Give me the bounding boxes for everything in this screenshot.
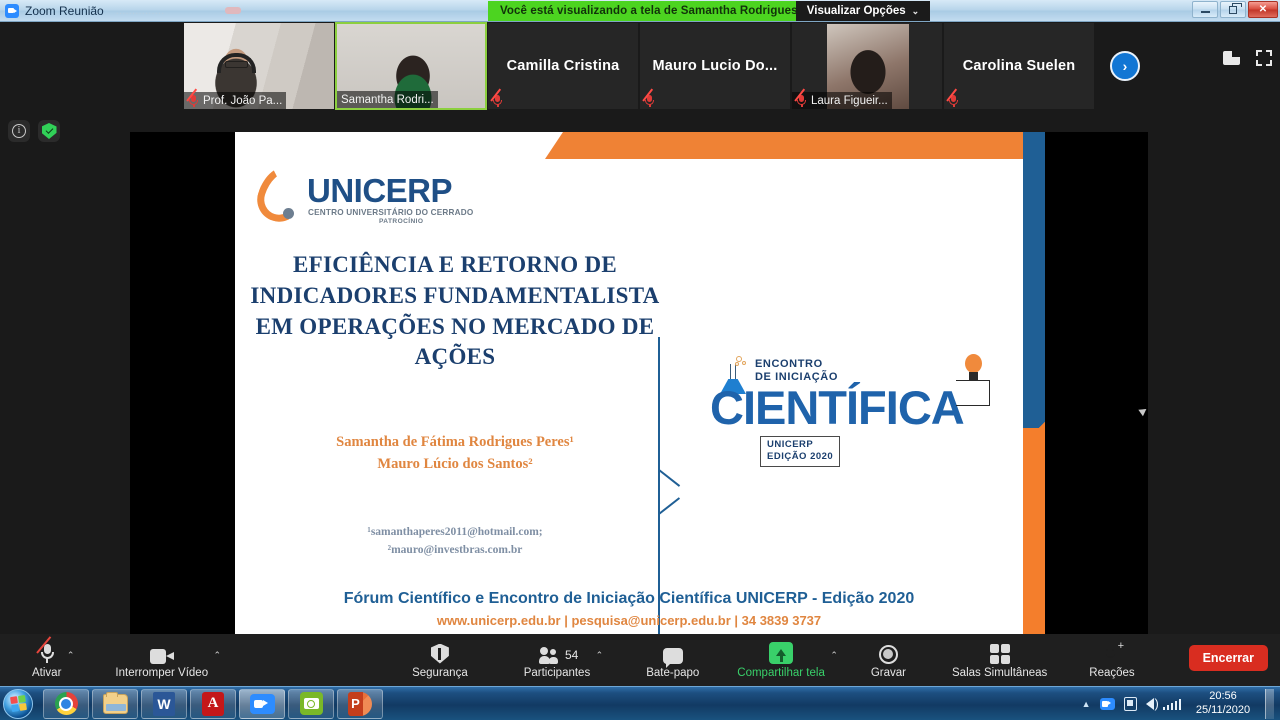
pip-view-icon[interactable] bbox=[1223, 51, 1240, 65]
chrome-icon bbox=[55, 692, 78, 715]
participant-namebar: Samantha Rodri... bbox=[337, 91, 438, 108]
taskbar-item-word[interactable]: W bbox=[141, 689, 187, 719]
record-icon bbox=[879, 642, 898, 664]
unicerp-dot-icon bbox=[283, 208, 294, 219]
security-button[interactable]: Segurança bbox=[408, 634, 472, 686]
event-logo-box-line2: EDIÇÃO 2020 bbox=[767, 451, 833, 463]
share-screen-icon bbox=[769, 642, 793, 664]
screen-share-banner: Você está visualizando a tela de Samanth… bbox=[488, 1, 810, 21]
event-logo: ENCONTRO DE INICIAÇÃO CIENTÍFICA UNICERP… bbox=[700, 350, 990, 468]
unicerp-wordmark: UNICERP bbox=[307, 172, 452, 210]
participant-tile[interactable]: Carolina Suelen bbox=[943, 22, 1095, 110]
zoom-toolbar: Ativar ⌃ Interromper Vídeo ⌃ Segurança 5… bbox=[0, 634, 1280, 686]
slide-footer-title: Fórum Científico e Encontro de Iniciação… bbox=[235, 590, 1023, 608]
record-label: Gravar bbox=[871, 667, 906, 679]
zoom-tray-icon[interactable] bbox=[1100, 698, 1115, 710]
taskbar-apps: W A bbox=[43, 689, 383, 719]
glasses-icon bbox=[225, 61, 248, 68]
taskbar-item-powerpoint[interactable] bbox=[337, 689, 383, 719]
zoom-icon bbox=[250, 694, 275, 714]
mic-muted-icon bbox=[948, 94, 959, 108]
security-label: Segurança bbox=[412, 667, 468, 679]
record-button[interactable]: Gravar bbox=[867, 634, 910, 686]
shield-icon bbox=[431, 642, 449, 664]
unicerp-swoosh-icon bbox=[251, 161, 310, 228]
restore-button[interactable] bbox=[1220, 1, 1246, 18]
event-logo-line1: ENCONTRO bbox=[755, 358, 823, 370]
system-tray: ▲ 20:56 25/11/2020 bbox=[1082, 689, 1280, 719]
mic-muted-icon bbox=[796, 94, 807, 108]
participants-label: Participantes bbox=[524, 667, 590, 679]
participant-name: Laura Figueir... bbox=[811, 95, 888, 107]
people-icon: 54 bbox=[551, 642, 563, 664]
participant-tile[interactable]: Camilla Cristina bbox=[487, 22, 639, 110]
word-icon: W bbox=[153, 692, 175, 716]
tray-overflow-icon[interactable]: ▲ bbox=[1082, 699, 1091, 709]
powerpoint-icon bbox=[348, 692, 372, 716]
participant-name: Prof. João Pa... bbox=[203, 95, 282, 107]
chevron-down-icon: ⌄ bbox=[912, 6, 920, 17]
chat-label: Bate-papo bbox=[646, 667, 699, 679]
slide-authors: Samantha de Fátima Rodrigues Peres¹ Maur… bbox=[245, 432, 665, 476]
participant-name: Samantha Rodri... bbox=[341, 94, 434, 106]
zoom-icon bbox=[5, 4, 19, 18]
video-options-caret-icon[interactable]: ⌃ bbox=[214, 650, 222, 661]
acrobat-icon: A bbox=[202, 692, 224, 716]
clock-date: 25/11/2020 bbox=[1190, 704, 1256, 718]
event-logo-main: CIENTÍFICA bbox=[710, 380, 964, 435]
unicerp-tagline: CENTRO UNIVERSITÁRIO DO CERRADO bbox=[308, 208, 473, 217]
taskbar-item-file-explorer[interactable] bbox=[92, 689, 138, 719]
participant-tile[interactable]: Samantha Rodri... bbox=[335, 22, 487, 110]
end-meeting-button[interactable]: Encerrar bbox=[1189, 645, 1268, 671]
participant-namebar: Laura Figueir... bbox=[792, 92, 892, 109]
filmstrip-next-button[interactable]: › bbox=[1110, 51, 1140, 81]
meeting-badges: i bbox=[8, 120, 60, 142]
shared-screen-canvas: UNICERP CENTRO UNIVERSITÁRIO DO CERRADO … bbox=[130, 132, 1148, 644]
taskbar-item-chrome[interactable] bbox=[43, 689, 89, 719]
taskbar-item-acrobat[interactable]: A bbox=[190, 689, 236, 719]
window-controls: ✕ bbox=[1192, 1, 1278, 18]
unicerp-tagline-2: PATROCÍNIO bbox=[379, 218, 423, 225]
breakout-rooms-label: Salas Simultâneas bbox=[952, 667, 1047, 679]
mic-muted-icon bbox=[39, 642, 54, 664]
slide-footer-contact: www.unicerp.edu.br | pesquisa@unicerp.ed… bbox=[235, 613, 1023, 628]
action-center-icon[interactable] bbox=[1124, 697, 1137, 711]
info-icon: i bbox=[12, 124, 26, 138]
mic-muted-icon bbox=[492, 94, 503, 108]
author-1: Samantha de Fátima Rodrigues Peres¹ bbox=[245, 432, 665, 454]
share-caret-icon[interactable]: ⌃ bbox=[830, 650, 838, 661]
participant-name: Mauro Lucio Do... bbox=[640, 23, 790, 109]
mic-muted-icon bbox=[644, 94, 655, 108]
presentation-slide: UNICERP CENTRO UNIVERSITÁRIO DO CERRADO … bbox=[235, 132, 1045, 644]
stop-video-button[interactable]: Interromper Vídeo ⌃ bbox=[111, 634, 212, 686]
shield-check-icon bbox=[42, 123, 57, 139]
participant-tile[interactable]: Mauro Lucio Do... bbox=[639, 22, 791, 110]
window-title-secondary: ............... bbox=[116, 5, 165, 17]
window-title: Zoom Reunião bbox=[25, 4, 104, 18]
reactions-label: Reações bbox=[1089, 667, 1134, 679]
chat-button[interactable]: Bate-papo bbox=[642, 634, 703, 686]
volume-icon[interactable] bbox=[1146, 698, 1154, 710]
lightbulb-icon bbox=[962, 354, 984, 388]
minimize-button[interactable] bbox=[1192, 1, 1218, 18]
participant-namebar bbox=[488, 92, 507, 109]
stop-video-label: Interromper Vídeo bbox=[115, 667, 208, 679]
email-2: ²mauro@investbras.com.br bbox=[245, 542, 665, 560]
windows-logo-icon bbox=[10, 695, 27, 712]
taskbar-item-camera-app[interactable] bbox=[288, 689, 334, 719]
participant-namebar: Prof. João Pa... bbox=[184, 92, 286, 109]
slide-right-orange-bar bbox=[1023, 428, 1045, 644]
taskbar-item-zoom[interactable] bbox=[239, 689, 285, 719]
share-screen-button[interactable]: Compartilhar tela ⌃ bbox=[733, 634, 829, 686]
event-logo-box-line1: UNICERP bbox=[767, 439, 833, 451]
clock-time: 20:56 bbox=[1190, 690, 1256, 704]
breakout-rooms-icon bbox=[990, 642, 1010, 664]
windows-taskbar: W A ▲ 20:56 25/11/2020 bbox=[0, 686, 1280, 720]
slide-top-orange-band bbox=[545, 132, 1045, 159]
breakout-rooms-button[interactable]: Salas Simultâneas bbox=[948, 634, 1051, 686]
camera-icon bbox=[150, 642, 174, 664]
close-button[interactable]: ✕ bbox=[1248, 1, 1278, 18]
participant-tile[interactable]: Laura Figueir... bbox=[791, 22, 943, 110]
fullscreen-icon[interactable] bbox=[1256, 50, 1272, 66]
view-options-button[interactable]: Visualizar Opções ⌄ bbox=[796, 1, 930, 21]
share-screen-label: Compartilhar tela bbox=[737, 667, 825, 679]
participants-count: 54 bbox=[565, 648, 578, 662]
mic-muted-icon bbox=[188, 94, 199, 108]
slide-emails: ¹samanthaperes2011@hotmail.com; ²mauro@i… bbox=[245, 524, 665, 560]
shared-screen-stage: i UNICERP CENTRO UNI bbox=[0, 110, 1280, 656]
participant-name: Camilla Cristina bbox=[488, 23, 638, 109]
unicerp-logo: UNICERP CENTRO UNIVERSITÁRIO DO CERRADO … bbox=[259, 164, 489, 230]
taskbar-clock[interactable]: 20:56 25/11/2020 bbox=[1190, 690, 1256, 718]
encryption-badge[interactable] bbox=[38, 120, 60, 142]
participant-namebar bbox=[944, 92, 963, 109]
filmstrip-next-area: › bbox=[1095, 22, 1155, 110]
mute-label: Ativar bbox=[32, 667, 61, 679]
filmstrip-spacer bbox=[0, 22, 183, 110]
view-options-label: Visualizar Opções bbox=[807, 5, 906, 17]
show-desktop-button[interactable] bbox=[1265, 689, 1274, 719]
slide-title: EFICIÊNCIA E RETORNO DE INDICADORES FUND… bbox=[245, 250, 665, 373]
meeting-info-badge[interactable]: i bbox=[8, 120, 30, 142]
event-logo-box: UNICERP EDIÇÃO 2020 bbox=[760, 436, 840, 467]
author-2: Mauro Lúcio dos Santos² bbox=[245, 454, 665, 476]
windows-start-button[interactable] bbox=[3, 689, 33, 719]
network-icon[interactable] bbox=[1163, 698, 1182, 710]
email-1: ¹samanthaperes2011@hotmail.com; bbox=[245, 524, 665, 542]
reactions-icon: + bbox=[1102, 642, 1122, 664]
participant-tile[interactable]: Prof. João Pa... bbox=[183, 22, 335, 110]
participants-button[interactable]: 54 Participantes ⌃ bbox=[520, 634, 594, 686]
view-controls bbox=[1223, 50, 1272, 66]
participant-name: Carolina Suelen bbox=[944, 23, 1094, 109]
title-bar-decoration bbox=[225, 7, 241, 14]
mute-button[interactable]: Ativar ⌃ bbox=[28, 634, 65, 686]
camera-app-icon bbox=[300, 692, 323, 715]
chat-bubble-icon bbox=[663, 642, 683, 664]
audio-options-caret-icon[interactable]: ⌃ bbox=[67, 650, 75, 661]
screen-root: Zoom Reunião ............... Você está v… bbox=[0, 0, 1280, 720]
folder-icon bbox=[103, 694, 128, 714]
participant-namebar bbox=[640, 92, 659, 109]
participants-caret-icon[interactable]: ⌃ bbox=[596, 650, 604, 661]
zoom-window: Prof. João Pa... Samantha Rodri... Camil… bbox=[0, 22, 1280, 686]
participant-filmstrip: Prof. João Pa... Samantha Rodri... Camil… bbox=[0, 22, 1280, 110]
reactions-button[interactable]: + Reações bbox=[1085, 634, 1138, 686]
slide-right-blue-bar bbox=[1023, 132, 1045, 432]
